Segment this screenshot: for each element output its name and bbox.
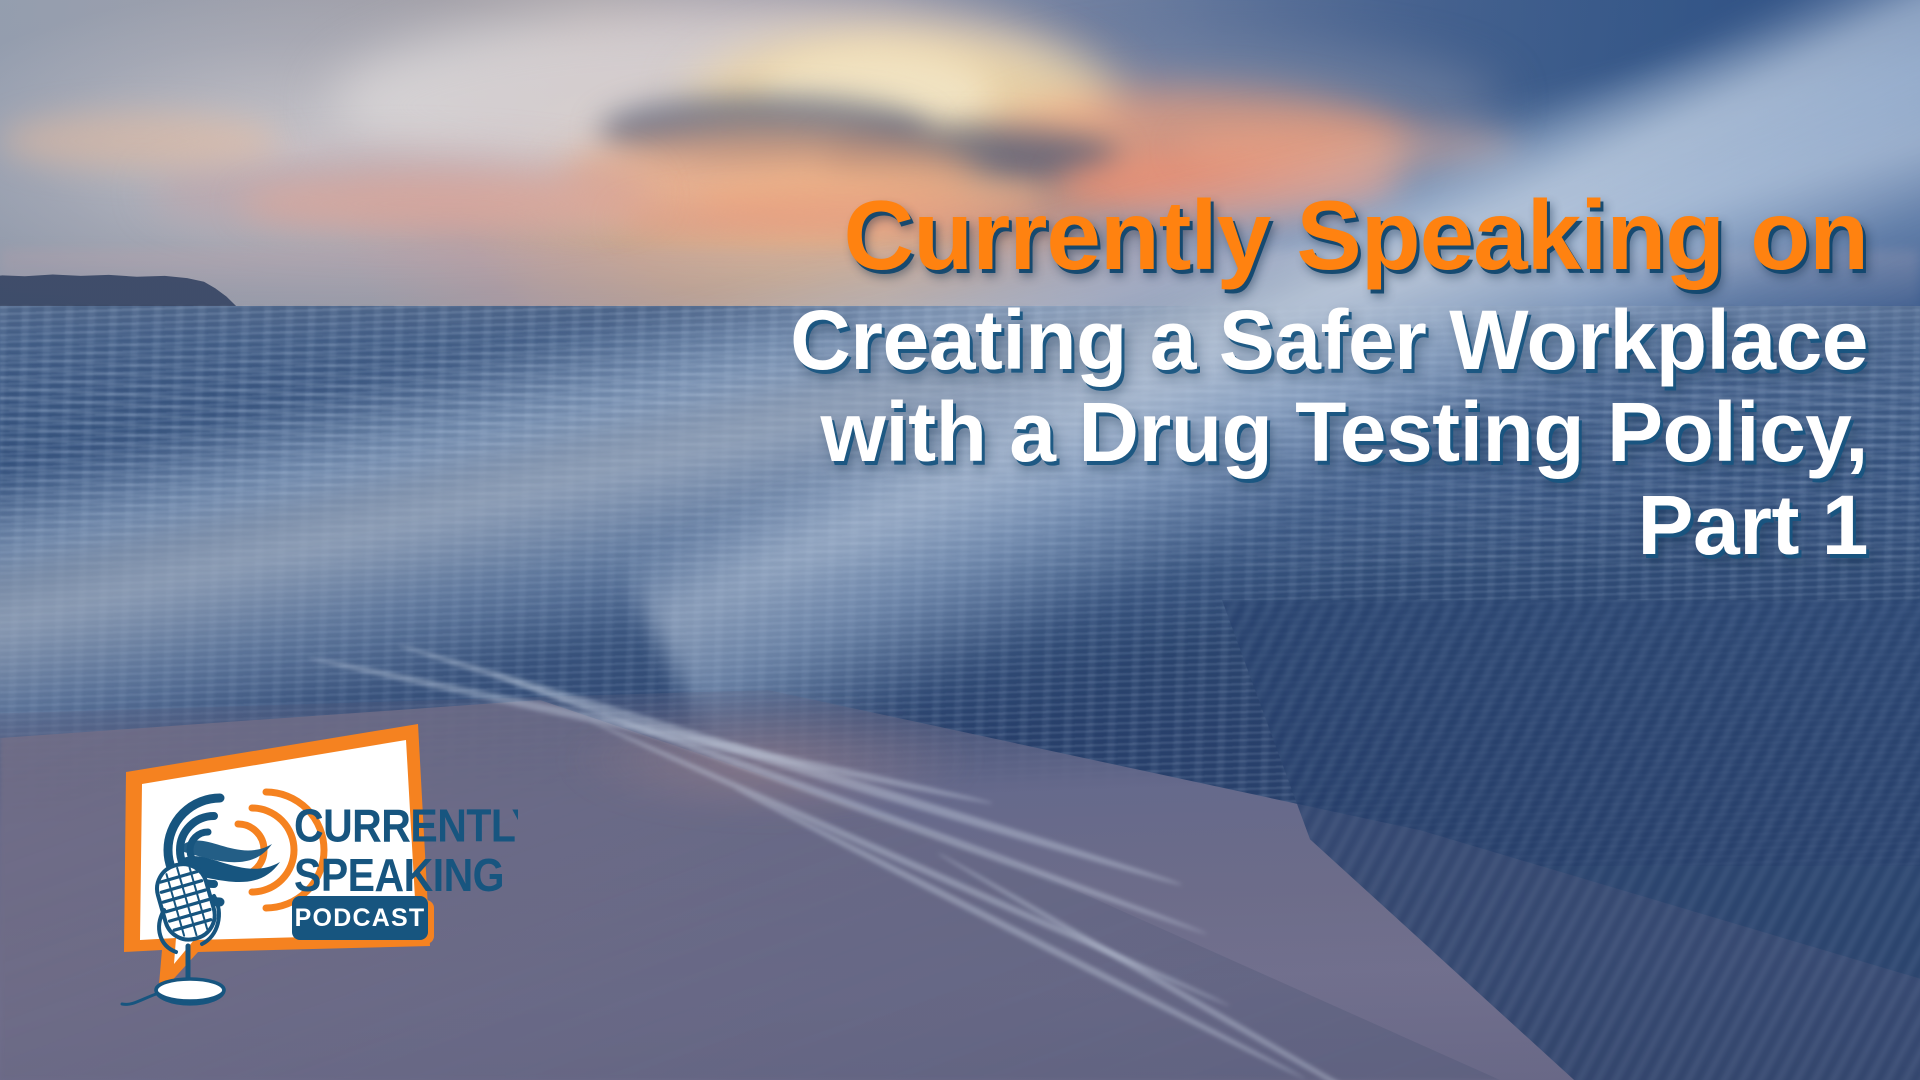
episode-title-line-1: Creating a Safer Workplace	[448, 294, 1868, 386]
episode-cover-canvas: Currently Speaking on Creating a Safer W…	[0, 0, 1920, 1080]
podcast-badge: PODCAST	[292, 896, 434, 944]
kicker-text: Currently Speaking on	[448, 186, 1868, 284]
episode-title-line-3: Part 1	[448, 479, 1868, 571]
logo-wordmark: CURRENTLY SPEAKING	[294, 802, 518, 902]
logo-wordmark-line-2: SPEAKING	[294, 851, 504, 902]
episode-title: Creating a Safer Workplace with a Drug T…	[448, 294, 1868, 571]
currently-speaking-podcast-logo: CURRENTLY SPEAKING	[118, 714, 518, 1014]
logo-wordmark-line-1: CURRENTLY	[294, 802, 518, 853]
episode-title-line-2: with a Drug Testing Policy,	[448, 386, 1868, 478]
cloud-band	[0, 112, 280, 170]
title-block: Currently Speaking on Creating a Safer W…	[448, 186, 1868, 571]
podcast-badge-label: PODCAST	[295, 904, 426, 932]
